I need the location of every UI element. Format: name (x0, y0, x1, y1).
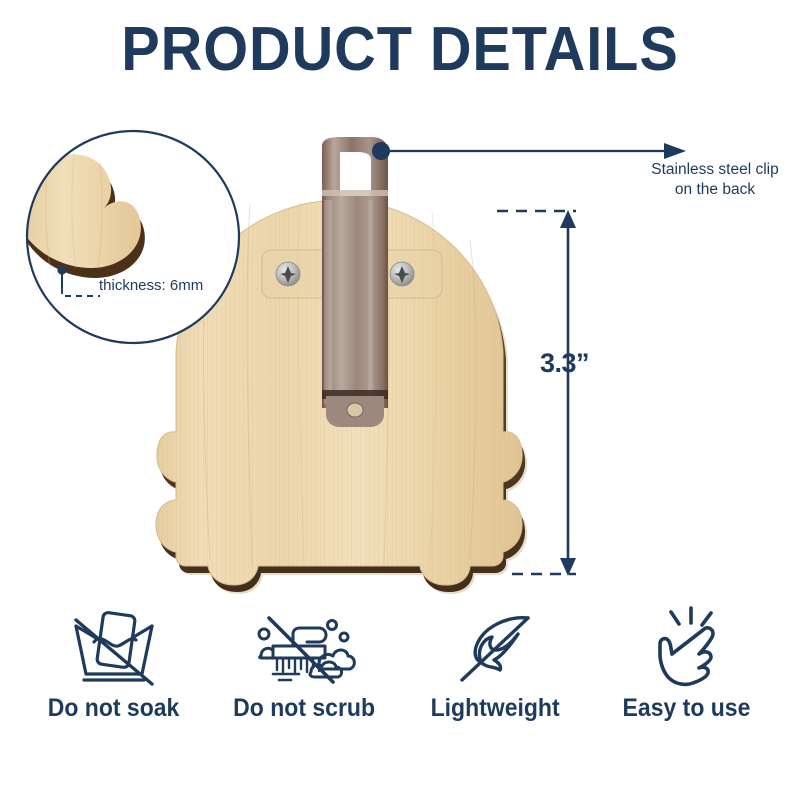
feature-label: Lightweight (431, 694, 560, 723)
feature-label: Do not scrub (234, 694, 376, 723)
no-scrub-icon (249, 604, 361, 690)
infographic-canvas: PRODUCT DETAILS (0, 0, 800, 800)
thickness-label: thickness: 6mm (99, 276, 203, 295)
feature-do-not-soak: Do not soak (18, 604, 209, 723)
feather-icon (448, 604, 544, 690)
feature-lightweight: Lightweight (400, 604, 591, 723)
clip-callout-line-2: on the back (640, 180, 790, 200)
arrow-head-up (560, 210, 576, 228)
feature-label: Easy to use (623, 694, 751, 723)
feature-easy-to-use: Easy to use (591, 604, 782, 723)
clip-callout-line-1: Stainless steel clip (640, 160, 790, 180)
clip-callout-label: Stainless steel clip on the back (640, 160, 790, 200)
feature-label: Do not soak (48, 694, 180, 723)
feature-do-not-scrub: Do not scrub (209, 604, 400, 723)
no-soak-icon (62, 604, 166, 690)
snap-hand-icon (641, 604, 733, 690)
feature-row: Do not soak (0, 604, 800, 754)
dimension-label: 3.3” (540, 348, 589, 379)
